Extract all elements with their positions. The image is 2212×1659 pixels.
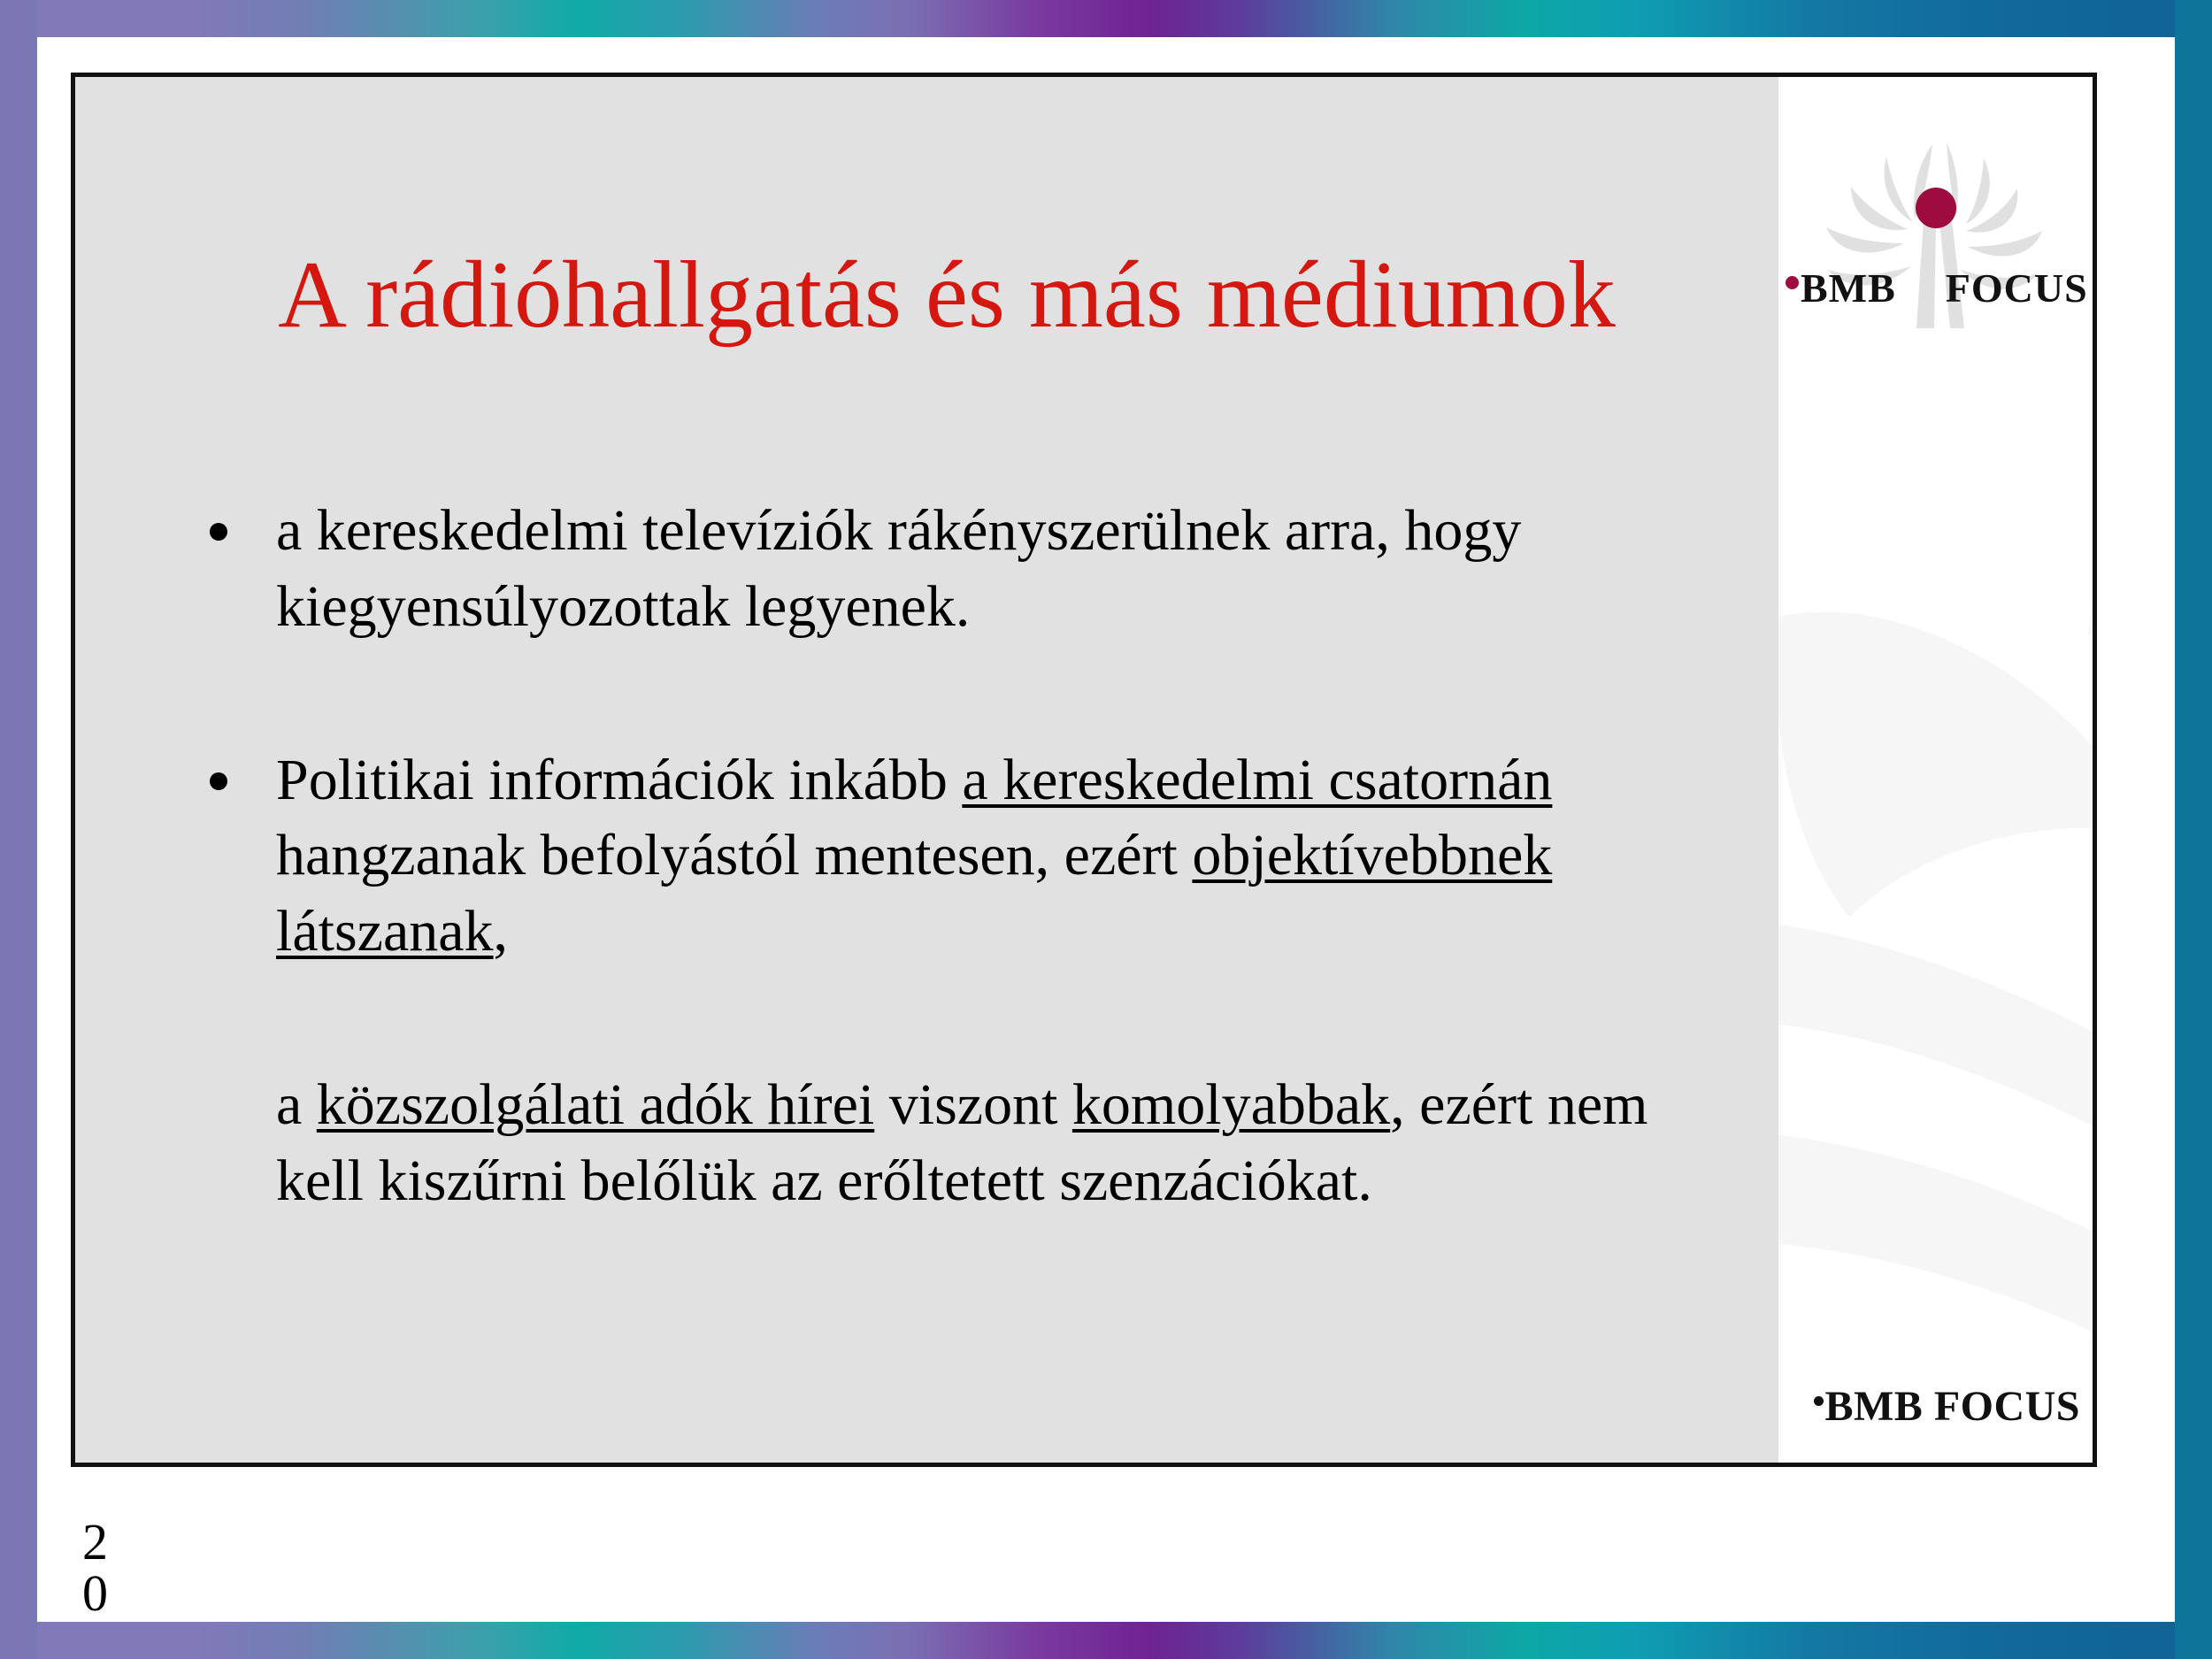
paragraph: a közszolgálati adók hírei viszont komol… [199,1067,1721,1219]
list-item-text: Politikai információk inkább a kereskede… [276,742,1721,970]
bottom-gradient-border [0,1622,2212,1659]
logo-word-left: BMB [1801,265,1896,311]
footer-bullet-dot [1814,1396,1824,1406]
logo-wordmark: BMBFOCUS [1786,265,2086,311]
list-item: a kereskedelmi televíziók rákényszerülne… [199,493,1721,645]
logo-center-dot [1916,188,1956,228]
footer-label: BMB FOCUS [1824,1383,2080,1430]
paragraph-text: a közszolgálati adók hírei viszont komol… [276,1067,1721,1219]
spacer [199,1010,1721,1067]
logo-bullet-dot [1786,276,1799,289]
right-accent-border [2175,0,2212,1659]
logo-word-right: FOCUS [1946,265,2088,311]
spacer [199,686,1721,742]
list-item-text: a kereskedelmi televíziók rákényszerülne… [276,493,1721,645]
left-accent-border [0,0,37,1659]
logo-panel: BMBFOCUS [1778,77,2093,1463]
page-number: 20 [82,1517,132,1619]
frond-watermark-icon [1778,457,2093,1463]
body-content: a kereskedelmi televíziók rákényszerülne… [199,493,1721,1219]
bullet-marker-icon [210,523,227,541]
bullet-marker-icon [210,772,227,790]
page-title: A rádióhallgatás és más médiumok [128,245,1765,345]
top-gradient-border [0,0,2212,37]
slide-frame: BMBFOCUS A rádióhallgatás és más médiumo… [71,73,2097,1467]
slide-footer: BMB FOCUS [1814,1382,2080,1431]
slide-page: BMBFOCUS A rádióhallgatás és más médiumo… [0,0,2212,1659]
list-item: Politikai információk inkább a kereskede… [199,742,1721,970]
